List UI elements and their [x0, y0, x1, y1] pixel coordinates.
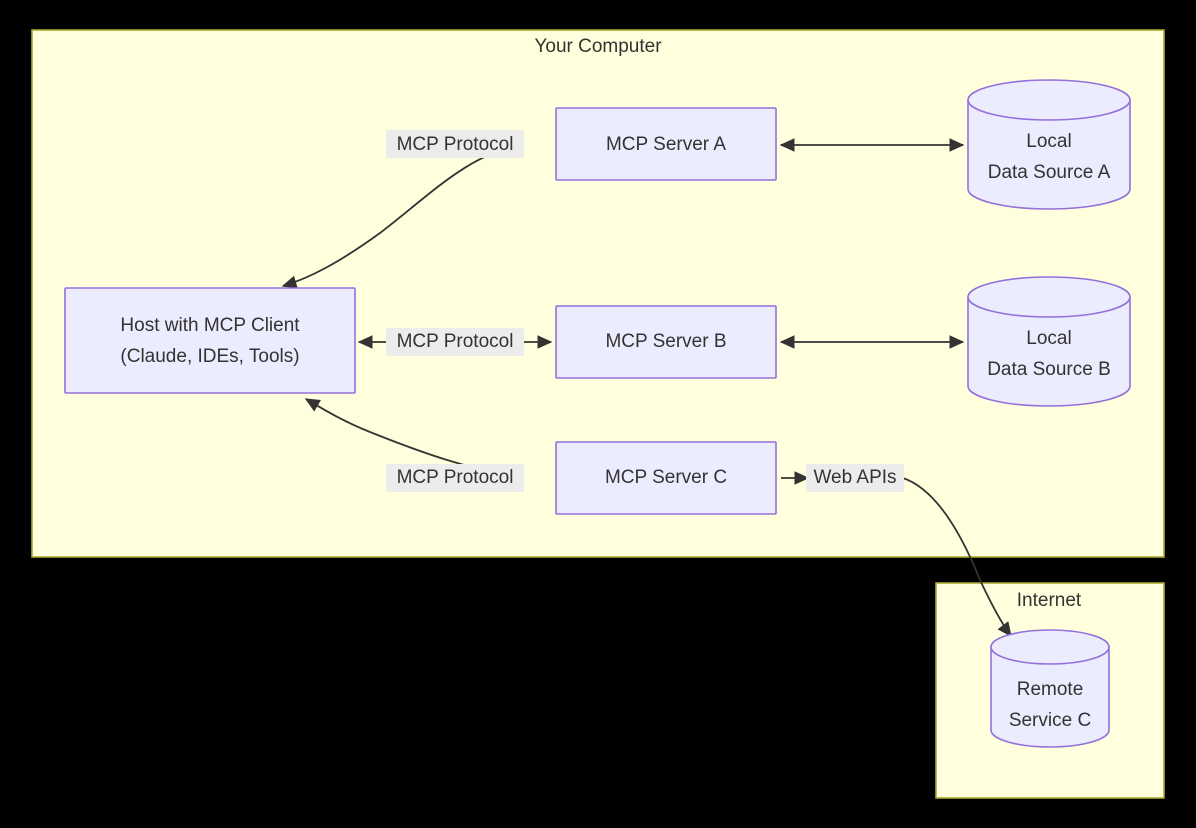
remote-c-label-line1: Remote	[1017, 679, 1084, 700]
host-box[interactable]	[65, 288, 355, 393]
server-c-label: MCP Server C	[605, 467, 727, 488]
edge-host-server-a-label: MCP Protocol	[397, 134, 514, 155]
data-a-label-line2: Data Source A	[988, 162, 1111, 183]
edge-server-c-remote-label: Web APIs	[813, 467, 896, 488]
host-label-line1: Host with MCP Client	[120, 315, 300, 336]
data-b-cylinder-top	[968, 277, 1130, 317]
remote-c-cylinder-top	[991, 630, 1109, 664]
host-label-line2: (Claude, IDEs, Tools)	[120, 346, 299, 367]
server-b-label: MCP Server B	[605, 331, 726, 352]
node-host[interactable]: Host with MCP Client (Claude, IDEs, Tool…	[65, 288, 355, 393]
internet-title: Internet	[1017, 590, 1082, 611]
edge-host-server-b-label: MCP Protocol	[397, 331, 514, 352]
edge-host-server-c-label: MCP Protocol	[397, 467, 514, 488]
your-computer-title: Your Computer	[534, 36, 662, 57]
node-data-a[interactable]: Local Data Source A	[968, 80, 1130, 209]
mcp-architecture-diagram: Your Computer Internet MCP Protocol MCP …	[0, 0, 1196, 828]
edge-host-server-b: MCP Protocol	[359, 328, 551, 356]
data-b-label-line2: Data Source B	[987, 359, 1111, 380]
node-data-b[interactable]: Local Data Source B	[968, 277, 1130, 406]
server-a-label: MCP Server A	[606, 134, 726, 155]
data-a-label-line1: Local	[1026, 131, 1071, 152]
data-b-label-line1: Local	[1026, 328, 1071, 349]
data-a-cylinder-top	[968, 80, 1130, 120]
remote-c-label-line2: Service C	[1009, 710, 1091, 731]
node-server-b[interactable]: MCP Server B	[556, 306, 776, 378]
diagram-canvas: Your Computer Internet MCP Protocol MCP …	[0, 0, 1196, 828]
node-server-a[interactable]: MCP Server A	[556, 108, 776, 180]
node-server-c[interactable]: MCP Server C	[556, 442, 776, 514]
node-remote-c[interactable]: Remote Service C	[991, 630, 1109, 747]
